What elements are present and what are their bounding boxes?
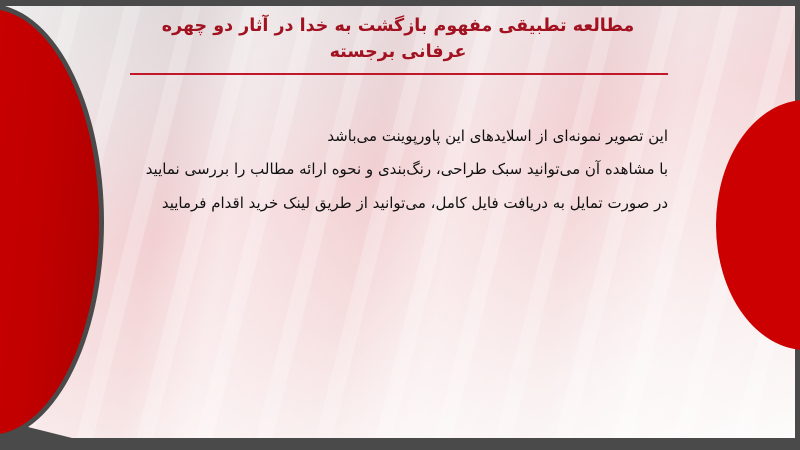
slide-title-line-1: مطالعه تطبیقی مفهوم بازگشت به خدا در آثا… <box>162 16 634 36</box>
body-text-line-2: با مشاهده آن می‌توانید سبک طراحی، رنگ‌بن… <box>108 153 668 186</box>
title-underline <box>130 73 668 75</box>
body-text-line-3: در صورت تمایل به دریافت فایل کامل، می‌تو… <box>108 187 668 220</box>
body-text-line-1: این تصویر نمونه‌ای از اسلایدهای این پاور… <box>108 120 668 153</box>
slide-content: مطالعه تطبیقی مفهوم بازگشت به خدا در آثا… <box>0 0 800 450</box>
presentation-slide: مطالعه تطبیقی مفهوم بازگشت به خدا در آثا… <box>0 0 800 450</box>
slide-title: مطالعه تطبیقی مفهوم بازگشت به خدا در آثا… <box>128 14 668 66</box>
slide-title-line-2: عرفانی برجسته <box>330 42 467 62</box>
slide-body-text: این تصویر نمونه‌ای از اسلایدهای این پاور… <box>108 120 668 220</box>
